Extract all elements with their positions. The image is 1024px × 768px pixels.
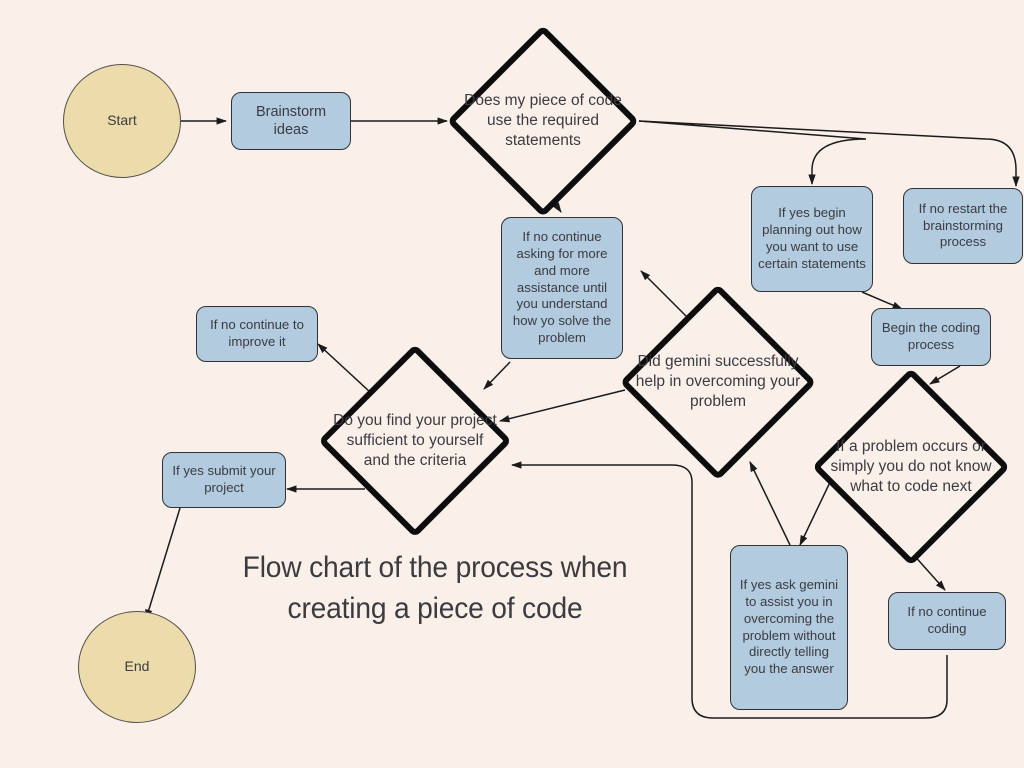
node-end[interactable]: End bbox=[78, 611, 196, 723]
edge-if-yes-submit-to-end bbox=[146, 508, 180, 619]
flowchart-canvas: Start Brainstorm ideas Does my piece of … bbox=[0, 0, 1024, 768]
node-project-sufficient-decision[interactable]: Do you find your project sufficient to y… bbox=[318, 344, 512, 538]
node-begin-coding-process-label: Begin the coding process bbox=[878, 320, 984, 354]
node-if-no-continue-improve[interactable]: If no continue to improve it bbox=[196, 306, 318, 362]
page-title: Flow chart of the process when creating … bbox=[205, 548, 666, 629]
edge-if-yes-plan-to-begin-coding bbox=[862, 292, 902, 309]
node-problem-occurs-label: If a problem occurs or simply you do not… bbox=[826, 437, 996, 497]
node-start-label: Start bbox=[107, 112, 137, 130]
node-begin-coding-process[interactable]: Begin the coding process bbox=[871, 308, 991, 366]
node-project-sufficient-label: Do you find your project sufficient to y… bbox=[332, 411, 499, 471]
page-title-line-2: creating a piece of code bbox=[205, 589, 666, 630]
node-if-no-restart-brainstorming-label: If no restart the brainstorming process bbox=[910, 201, 1016, 251]
node-if-no-continue-improve-label: If no continue to improve it bbox=[203, 317, 311, 351]
node-end-label: End bbox=[125, 658, 150, 676]
node-required-statements-decision[interactable]: Does my piece of code use the required s… bbox=[447, 25, 639, 217]
edge-did-gemini-to-sufficient bbox=[500, 390, 625, 421]
node-if-no-continue-asking-label: If no continue asking for more and more … bbox=[508, 229, 616, 346]
node-did-gemini-help-decision[interactable]: Did gemini successfully help in overcomi… bbox=[620, 284, 816, 480]
node-if-yes-ask-gemini[interactable]: If yes ask gemini to assist you in overc… bbox=[730, 545, 848, 710]
node-if-yes-ask-gemini-label: If yes ask gemini to assist you in overc… bbox=[737, 577, 841, 678]
node-did-gemini-help-label: Did gemini successfully help in overcomi… bbox=[634, 352, 803, 412]
node-if-yes-begin-planning[interactable]: If yes begin planning out how you want t… bbox=[751, 186, 873, 292]
page-title-line-1: Flow chart of the process when bbox=[205, 548, 666, 589]
node-if-no-continue-coding[interactable]: If no continue coding bbox=[888, 592, 1006, 650]
node-if-no-restart-brainstorming[interactable]: If no restart the brainstorming process bbox=[903, 188, 1023, 264]
node-brainstorm-ideas[interactable]: Brainstorm ideas bbox=[231, 92, 351, 150]
node-if-yes-submit-project-label: If yes submit your project bbox=[169, 463, 279, 497]
node-if-no-continue-asking[interactable]: If no continue asking for more and more … bbox=[501, 217, 623, 359]
node-brainstorm-ideas-label: Brainstorm ideas bbox=[238, 103, 344, 140]
node-start[interactable]: Start bbox=[63, 64, 181, 178]
edge-required-to-if-yes-plan bbox=[639, 121, 866, 184]
node-if-yes-submit-project[interactable]: If yes submit your project bbox=[162, 452, 286, 508]
node-required-statements-label: Does my piece of code use the required s… bbox=[460, 91, 625, 151]
edge-required-to-if-no-restart bbox=[639, 121, 1016, 186]
node-if-no-continue-coding-label: If no continue coding bbox=[895, 604, 999, 638]
node-if-yes-begin-planning-label: If yes begin planning out how you want t… bbox=[758, 205, 866, 272]
node-problem-occurs-decision[interactable]: If a problem occurs or simply you do not… bbox=[812, 368, 1010, 566]
